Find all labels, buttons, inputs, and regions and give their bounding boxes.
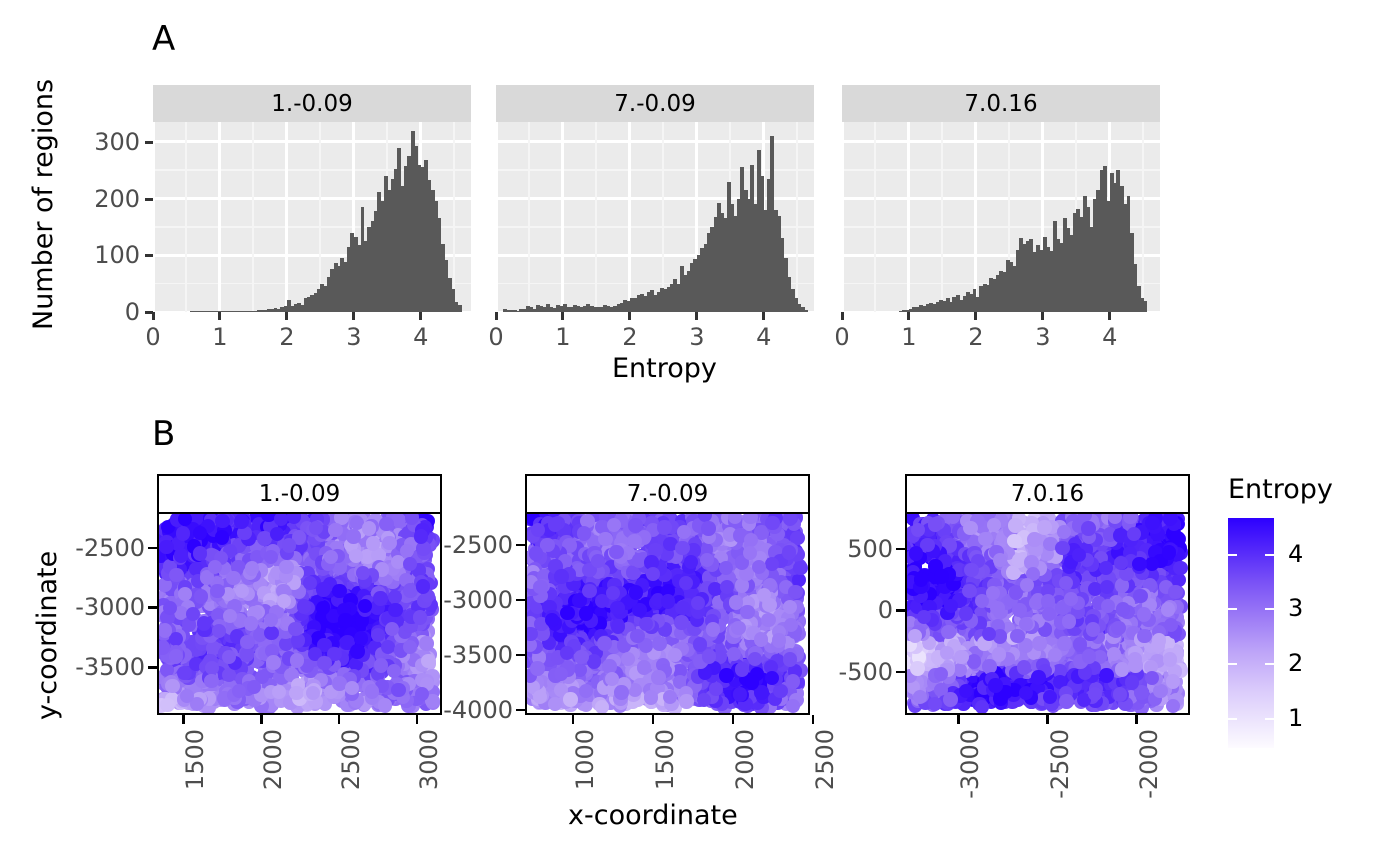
scatter-point	[277, 594, 291, 608]
scatter-point	[591, 554, 605, 568]
scatter-point	[317, 656, 331, 670]
scatter-point	[244, 616, 258, 630]
grid-line-vertical-minor	[185, 122, 187, 312]
scatter-point	[657, 520, 671, 534]
grid-line-vertical	[628, 122, 631, 312]
scatter-point	[761, 613, 775, 627]
scatter-point	[240, 635, 254, 649]
scatter-point	[674, 615, 688, 629]
grid-line-vertical	[907, 122, 910, 312]
panel-b-y-tick-label: -2500	[417, 533, 513, 557]
panel-b-x-tick-label: 2000	[733, 729, 757, 829]
histogram-bar	[458, 305, 462, 312]
panel-a-x-tick-mark	[419, 312, 422, 320]
scatter-point	[740, 605, 754, 619]
scatter-point	[373, 591, 387, 605]
panel-a-x-tick-label: 2	[956, 325, 996, 349]
scatter-point	[193, 546, 207, 560]
panel-b-facet-label: 1.-0.09	[259, 481, 340, 507]
panel-a-facet: 1.-0.09	[153, 85, 471, 312]
grid-line-vertical	[218, 122, 221, 312]
grid-line-vertical	[285, 122, 288, 312]
panel-a-x-tick-label: 4	[401, 325, 441, 349]
grid-line-horizontal-minor	[496, 169, 814, 171]
panel-b-y-tick-label: -4000	[417, 698, 513, 722]
panel-b-facet-strip: 7.-0.09	[525, 474, 810, 514]
panel-b-plot-area	[157, 514, 442, 715]
panel-b-x-tick-mark	[652, 715, 655, 724]
panel-b-x-tick-mark	[812, 715, 815, 724]
scatter-point	[577, 526, 591, 540]
scatter-point	[614, 685, 628, 699]
scatter-point	[165, 679, 179, 693]
panel-a-y-tick-label: 100	[58, 243, 140, 267]
scatter-point	[378, 698, 392, 712]
panel-a-x-tick-mark	[152, 312, 155, 320]
panel-a-y-tick-label: 0	[58, 300, 140, 324]
scatter-point	[288, 622, 302, 636]
figure-root: A Number of regions Entropy 3002001000 1…	[0, 0, 1400, 865]
scatter-point	[548, 697, 562, 711]
scatter-point	[371, 628, 385, 642]
panel-a-y-tick-mark	[145, 254, 153, 257]
scatter-point	[574, 650, 588, 664]
scatter-point	[350, 644, 364, 658]
scatter-point	[158, 623, 172, 637]
scatter-point	[159, 540, 173, 554]
panel-a-x-tick-mark	[561, 312, 564, 320]
panel-a-facet-strip: 7.-0.09	[496, 85, 814, 122]
scatter-point	[675, 541, 689, 555]
scatter-point	[157, 640, 170, 654]
scatter-point	[733, 687, 747, 701]
scatter-point	[706, 622, 720, 636]
scatter-point	[675, 601, 689, 615]
scatter-point	[719, 668, 733, 682]
panel-b-facet-label: 7.-0.09	[627, 481, 708, 507]
scatter-point	[174, 548, 188, 562]
scatter-point	[661, 594, 675, 608]
scatter-point	[595, 700, 609, 714]
panel-a-plot-area	[153, 122, 471, 312]
scatter-point	[554, 569, 568, 583]
panel-b-y-tick-mark	[516, 599, 525, 602]
panel-a-x-tick-mark	[841, 312, 844, 320]
scatter-point	[530, 661, 544, 675]
panel-b-x-tick-label: 2500	[339, 729, 363, 829]
scatter-point	[554, 667, 568, 681]
scatter-points-layer	[159, 514, 440, 713]
histogram-bar	[804, 310, 808, 312]
panel-a-x-tick-mark	[1108, 312, 1111, 320]
panel-a-x-tick-mark	[974, 312, 977, 320]
panel-a-x-tick-mark	[218, 312, 221, 320]
scatter-point	[264, 613, 278, 627]
scatter-point	[272, 685, 286, 699]
scatter-point	[197, 616, 211, 630]
scatter-point	[204, 674, 218, 688]
panel-a-x-tick-label: 1	[889, 325, 929, 349]
grid-line-vertical-minor	[595, 122, 597, 312]
scatter-point	[338, 613, 352, 627]
scatter-point	[793, 561, 807, 575]
scatter-point	[388, 603, 402, 617]
panel-a-facet: 7.0.16	[842, 85, 1160, 312]
panel-a-x-tick-label: 0	[476, 325, 516, 349]
scatter-point	[582, 584, 596, 598]
scatter-point	[627, 534, 641, 548]
grid-line-vertical-minor	[796, 122, 798, 312]
scatter-point	[731, 621, 745, 635]
scatter-point	[245, 561, 259, 575]
panel-a-x-tick-mark	[695, 312, 698, 320]
panel-b-facet-strip: 7.0.16	[905, 474, 1190, 514]
scatter-point	[609, 545, 623, 559]
grid-line-vertical	[842, 122, 844, 312]
scatter-point	[391, 683, 405, 697]
scatter-point	[597, 636, 611, 650]
scatter-point	[621, 652, 635, 666]
scatter-point	[533, 580, 547, 594]
panel-a-x-tick-label: 0	[822, 325, 862, 349]
panel-a-x-tick-mark	[628, 312, 631, 320]
scatter-point	[328, 523, 342, 537]
histogram-bar	[1143, 301, 1147, 312]
scatter-point	[413, 610, 427, 624]
panel-a-x-tick-label: 4	[744, 325, 784, 349]
panel-a-y-tick-label: 200	[58, 187, 140, 211]
scatter-point	[652, 636, 666, 650]
scatter-point	[332, 584, 346, 598]
panel-b-y-tick-label: -3000	[49, 595, 145, 619]
scatter-point	[548, 517, 562, 531]
panel-a-plot-area	[842, 122, 1160, 312]
scatter-point	[160, 698, 174, 712]
scatter-point	[282, 538, 296, 552]
panel-a-x-tick-label: 1	[200, 325, 240, 349]
panel-a-y-tick-mark	[145, 198, 153, 201]
panel-b-y-tick-mark	[148, 547, 157, 550]
scatter-point	[346, 529, 360, 543]
scatter-point	[240, 647, 254, 661]
scatter-point	[765, 516, 779, 530]
scatter-point	[266, 655, 280, 669]
scatter-point	[679, 576, 693, 590]
panel-b-x-tick-mark	[732, 715, 735, 724]
scatter-point	[358, 599, 372, 613]
scatter-point	[786, 699, 800, 713]
grid-line-vertical	[496, 122, 498, 312]
panel-a-x-tick-mark	[495, 312, 498, 320]
panel-a-x-tick-label: 0	[133, 325, 173, 349]
panel-b-plot-area	[525, 514, 810, 715]
scatter-point	[560, 606, 574, 620]
panel-a-x-tick-mark	[762, 312, 765, 320]
scatter-point	[579, 684, 593, 698]
scatter-point	[772, 633, 786, 647]
scatter-point	[598, 532, 612, 546]
scatter-point	[210, 584, 224, 598]
scatter-point	[400, 544, 414, 558]
scatter-point	[630, 629, 644, 643]
panel-b-y-axis-title: y-coordinate	[34, 551, 61, 720]
scatter-points-layer	[527, 514, 808, 713]
panel-b-y-tick-mark	[516, 544, 525, 547]
scatter-point	[290, 653, 304, 667]
panel-b-facet-label: 7.0.16	[1011, 481, 1084, 507]
panel-b-x-tick-mark	[260, 715, 263, 724]
panel-b-x-tick-label: 1000	[573, 729, 597, 829]
panel-b-x-tick-mark	[182, 715, 185, 724]
scatter-point	[194, 589, 208, 603]
scatter-point	[169, 568, 183, 582]
scatter-point	[745, 675, 759, 689]
panel-b-x-tick-label: 1500	[653, 729, 677, 829]
scatter-point	[279, 560, 293, 574]
scatter-point	[637, 660, 651, 674]
panel-a-x-axis-title: Entropy	[612, 355, 717, 382]
panel-a-x-tick-label: 3	[334, 325, 374, 349]
grid-line-vertical-minor	[874, 122, 876, 312]
scatter-point	[316, 582, 330, 596]
panel-a-letter: A	[152, 22, 175, 56]
grid-line-vertical-minor	[662, 122, 664, 312]
grid-line-horizontal	[842, 140, 1160, 143]
scatter-point	[365, 684, 379, 698]
panel-a-y-tick-label: 300	[58, 130, 140, 154]
scatter-point	[628, 518, 642, 532]
grid-line-vertical-minor	[1142, 122, 1144, 312]
panel-a-x-tick-mark	[907, 312, 910, 320]
scatter-point	[533, 690, 547, 704]
panel-a-x-tick-mark	[1041, 312, 1044, 320]
panel-b-x-tick-label: 3000	[417, 729, 441, 829]
panel-b-x-tick-label: 1500	[183, 729, 207, 829]
grid-line-vertical-minor	[528, 122, 530, 312]
grid-line-vertical-minor	[252, 122, 254, 312]
grid-line-vertical	[974, 122, 977, 312]
panel-a-x-tick-label: 2	[267, 325, 307, 349]
grid-line-vertical-minor	[453, 122, 455, 312]
grid-line-horizontal	[153, 140, 471, 143]
panel-a-x-tick-mark	[352, 312, 355, 320]
scatter-point	[651, 670, 665, 684]
scatter-point	[644, 690, 658, 704]
panel-a-facet-strip: 7.0.16	[842, 85, 1160, 122]
grid-line-horizontal-minor	[842, 169, 1160, 171]
scatter-point	[735, 662, 749, 676]
grid-line-horizontal	[496, 140, 814, 143]
panel-b-facet-strip: 1.-0.09	[157, 474, 442, 514]
panel-b-y-tick-mark	[516, 709, 525, 712]
scatter-point	[679, 694, 693, 708]
panel-b-y-tick-label: -2500	[49, 536, 145, 560]
grid-line-vertical	[561, 122, 564, 312]
panel-b-x-tick-mark	[338, 715, 341, 724]
panel-a-facet-label: 7.0.16	[964, 91, 1037, 117]
panel-b-facet: 7.0.16	[905, 474, 1190, 715]
scatter-point	[579, 606, 593, 620]
panel-b-y-tick-label: -3500	[49, 655, 145, 679]
scatter-point	[226, 571, 240, 585]
scatter-point	[382, 536, 396, 550]
scatter-point	[629, 585, 643, 599]
scatter-point	[701, 521, 715, 535]
panel-a-y-tick-mark	[145, 141, 153, 144]
panel-a-x-tick-label: 3	[677, 325, 717, 349]
scatter-point	[234, 514, 248, 528]
panel-b-letter: B	[152, 417, 175, 451]
panel-b-x-tick-label: 2000	[261, 729, 285, 829]
panel-b-facet: 7.-0.09	[525, 474, 810, 715]
panel-b-x-tick-label: 2500	[813, 729, 837, 829]
panel-a-plot-area	[496, 122, 814, 312]
grid-line-vertical-minor	[941, 122, 943, 312]
panel-a-x-tick-label: 4	[1090, 325, 1130, 349]
scatter-point	[783, 652, 797, 666]
panel-b-y-tick-label: -3500	[417, 643, 513, 667]
scatter-point	[297, 599, 311, 613]
panel-a-x-tick-label: 1	[543, 325, 583, 349]
scatter-point	[212, 624, 226, 638]
panel-b-y-tick-mark	[148, 606, 157, 609]
panel-a-facet: 7.-0.09	[496, 85, 814, 312]
scatter-point	[316, 601, 330, 615]
panel-a-facet-label: 1.-0.09	[271, 91, 352, 117]
scatter-point	[403, 640, 417, 654]
scatter-point	[743, 546, 757, 560]
scatter-point	[611, 619, 625, 633]
scatter-point	[610, 601, 624, 615]
scatter-point	[563, 692, 577, 706]
scatter-point	[702, 649, 716, 663]
panel-a-x-tick-label: 2	[610, 325, 650, 349]
scatter-point	[729, 595, 743, 609]
scatter-point	[529, 546, 543, 560]
scatter-point	[366, 536, 380, 550]
scatter-point	[587, 654, 601, 668]
scatter-point	[215, 530, 229, 544]
panel-a-y-axis-title: Number of regions	[30, 79, 57, 330]
panel-b-facet: 1.-0.09	[157, 474, 442, 715]
scatter-point	[405, 514, 419, 525]
panel-a-x-tick-mark	[285, 312, 288, 320]
scatter-point	[684, 555, 698, 569]
panel-a-facet-strip: 1.-0.09	[153, 85, 471, 122]
panel-b-y-tick-label: -3000	[417, 588, 513, 612]
scatter-point	[176, 526, 190, 540]
panel-b-x-tick-mark	[572, 715, 575, 724]
scatter-point	[362, 521, 376, 535]
scatter-point	[264, 626, 278, 640]
panel-b-y-tick-mark	[148, 666, 157, 669]
panel-a-x-tick-label: 3	[1023, 325, 1063, 349]
panel-a-facet-label: 7.-0.09	[614, 91, 695, 117]
grid-line-vertical	[153, 122, 155, 312]
panel-b-y-tick-mark	[516, 654, 525, 657]
scatter-point	[754, 632, 768, 646]
